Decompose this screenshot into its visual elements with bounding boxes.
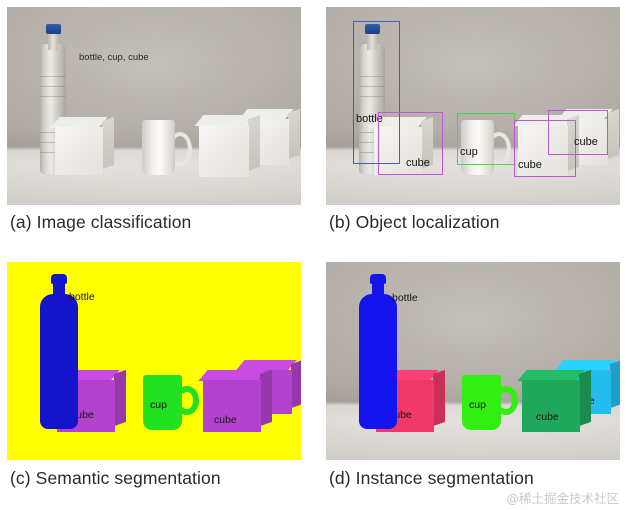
panel-caption-a: (a) Image classification	[10, 212, 191, 233]
mask-label-cup-2: cup	[469, 399, 486, 411]
bbox-cube-4[interactable]	[548, 110, 608, 155]
scene-a: bottle, cup, cube	[7, 7, 301, 205]
panel-caption-d: (d) Instance segmentation	[329, 468, 534, 489]
panel-caption-b: (b) Object localization	[329, 212, 500, 233]
mask-cube-side	[291, 360, 301, 408]
classification-label: bottle, cup, cube	[79, 52, 149, 63]
mask-cube-side	[610, 360, 620, 408]
mask-label-cup-2: cup	[150, 399, 167, 411]
bbox-label-cube-4: cube	[574, 136, 598, 148]
photo-cup	[142, 120, 184, 175]
photo-cube-right	[199, 125, 249, 177]
mask-cube-face	[522, 380, 580, 432]
mask-bottle-0[interactable]	[359, 294, 397, 429]
watermark: @稀土掘金技术社区	[506, 488, 619, 507]
mask-label-cube-3: cube	[214, 414, 237, 426]
mask-cube-side	[114, 370, 126, 426]
panel-object-localization: bottlecubecupcubecube (b) Object localiz…	[313, 0, 627, 250]
panel-instance-segmentation: cubecubecupcubebottle (d) Instance segme…	[313, 250, 627, 510]
mask-bottle-cap	[51, 274, 68, 284]
mask-cube-side	[260, 370, 272, 426]
panel-image-classification: bottle, cup, cube (a) Image classificati…	[0, 0, 313, 250]
bbox-label-cube-1: cube	[406, 157, 430, 169]
bbox-label-cube-3: cube	[518, 159, 542, 171]
mask-bottle-0[interactable]	[40, 294, 78, 429]
mask-cube-3[interactable]	[522, 380, 580, 432]
mask-label-bottle-0: bottle	[392, 292, 418, 304]
mask-label-cube-3: cube	[536, 411, 559, 423]
scene-d: cubecubecupcubebottle	[326, 262, 620, 460]
figure-grid: bottle, cup, cube (a) Image classificati…	[0, 0, 627, 510]
panel-semantic-segmentation: cubecubecupcubebottle (c) Semantic segme…	[0, 250, 313, 510]
mask-cube-side	[433, 370, 445, 426]
scene-b: bottlecubecupcubecube	[326, 7, 620, 205]
photo-cube-left	[55, 127, 103, 175]
bbox-label-cup-2: cup	[460, 146, 478, 158]
mask-cube-side	[579, 370, 591, 426]
scene-c: cubecubecupcubebottle	[7, 262, 301, 460]
mask-label-bottle-0: bottle	[69, 291, 95, 303]
panel-caption-c: (c) Semantic segmentation	[10, 468, 221, 489]
mask-bottle-cap	[370, 274, 387, 284]
